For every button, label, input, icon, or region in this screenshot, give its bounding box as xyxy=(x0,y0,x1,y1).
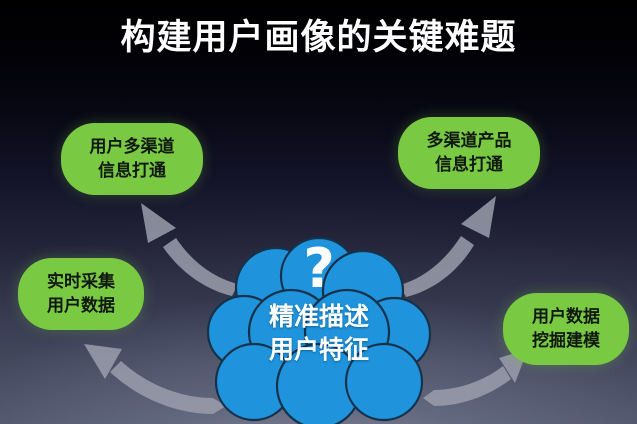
arrow-to-right-icon xyxy=(423,349,528,406)
bubble-top-left-line2: 信息打通 xyxy=(98,159,166,183)
cloud-shape-icon xyxy=(206,236,432,424)
bubble-right[interactable]: 用户数据 挖掘建模 xyxy=(503,293,629,365)
bubble-top-left[interactable]: 用户多渠道 信息打通 xyxy=(61,123,203,195)
slide-canvas: 构建用户画像的关键难题 用户多渠道 信息打通 xyxy=(0,0,637,424)
bubble-left[interactable]: 实时采集 用户数据 xyxy=(18,258,144,330)
bubble-top-left-line1: 用户多渠道 xyxy=(90,135,175,159)
bubble-right-line1: 用户数据 xyxy=(532,305,600,329)
bubble-top-right-line2: 信息打通 xyxy=(435,153,503,177)
arrow-to-left-icon xyxy=(84,344,226,414)
bubble-left-line1: 实时采集 xyxy=(47,270,115,294)
bubble-left-line2: 用户数据 xyxy=(47,294,115,318)
center-cloud[interactable]: ? 精准描述 用户特征 xyxy=(206,236,432,424)
bubble-top-right-line1: 多渠道产品 xyxy=(427,129,512,153)
bubble-right-line2: 挖掘建模 xyxy=(532,329,600,353)
bubble-top-right[interactable]: 多渠道产品 信息打通 xyxy=(398,117,540,189)
